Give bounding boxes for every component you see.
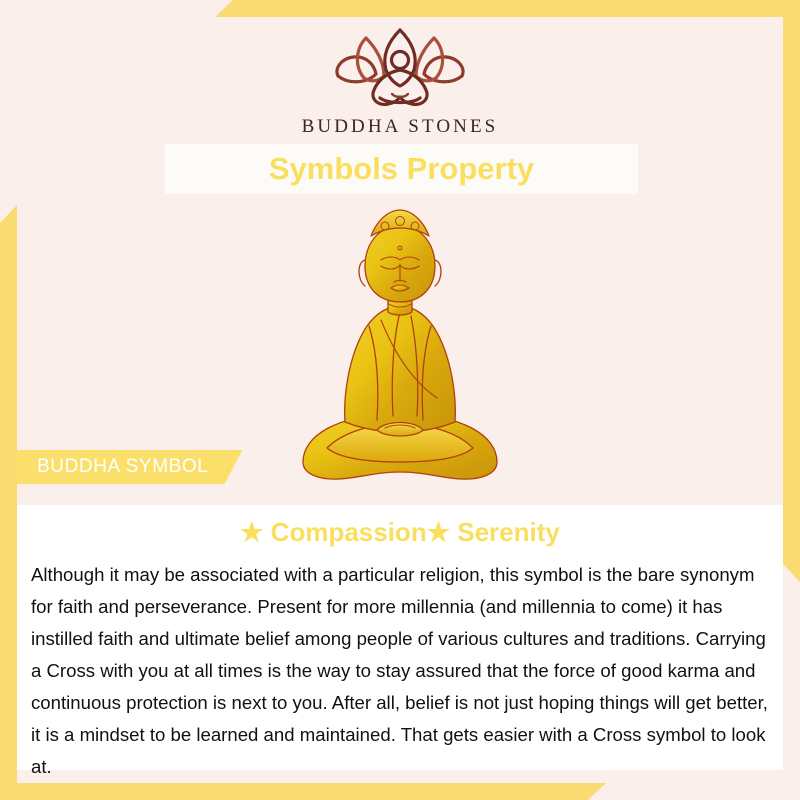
section-ribbon: BUDDHA SYMBOL bbox=[17, 450, 242, 484]
brand-logo: BUDDHA STONES bbox=[0, 24, 800, 138]
content-paragraph: Although it may be associated with a par… bbox=[31, 559, 769, 783]
brand-wordmark: BUDDHA STONES bbox=[0, 116, 800, 138]
lotus-meditation-figure-icon bbox=[308, 24, 492, 112]
section-ribbon-label: BUDDHA SYMBOL bbox=[37, 456, 208, 478]
golden-buddha-statue-illustration bbox=[285, 200, 515, 490]
decor-bar-bottom bbox=[0, 783, 606, 800]
poster-root: BUDDHA STONES Symbols Property bbox=[0, 0, 800, 800]
content-panel: ★ Compassion★ Serenity Although it may b… bbox=[17, 505, 783, 770]
page-title: Symbols Property bbox=[269, 151, 534, 187]
decor-bar-top bbox=[215, 0, 800, 17]
hero-image bbox=[0, 200, 800, 490]
content-subheading: ★ Compassion★ Serenity bbox=[17, 517, 783, 548]
page-title-band: Symbols Property bbox=[165, 144, 638, 194]
